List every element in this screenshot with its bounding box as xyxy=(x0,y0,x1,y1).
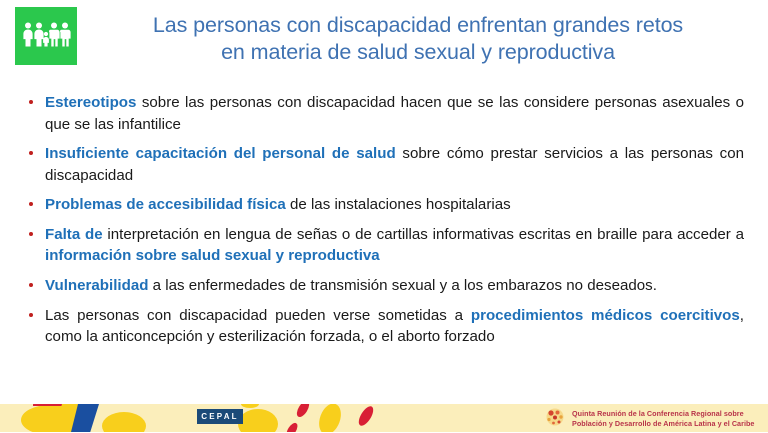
conference-title-line-1: Quinta Reunión de la Conferencia Regiona… xyxy=(572,409,754,419)
conference-title-line-2: Población y Desarrollo de América Latina… xyxy=(572,419,754,429)
list-item: Las personas con discapacidad pueden ver… xyxy=(22,305,744,348)
bullet-dot-icon xyxy=(29,283,33,287)
slide-header: Las personas con discapacidad enfrentan … xyxy=(0,0,768,88)
slide-title-line-1: Las personas con discapacidad enfrentan … xyxy=(88,12,748,39)
list-item: Problemas de accesibilidad física de las… xyxy=(22,194,744,216)
bullet-body-text: de las instalaciones hospitalarias xyxy=(286,196,511,213)
bullet-lead-highlight: Vulnerabilidad xyxy=(45,277,148,294)
conference-swirl-icon xyxy=(545,408,567,428)
slide-title-line-2: en materia de salud sexual y reproductiv… xyxy=(88,39,748,66)
bullet-dot-icon xyxy=(29,232,33,236)
bullet-dot-icon xyxy=(29,202,33,206)
bullet-body-text: sobre las personas con discapacidad hace… xyxy=(45,94,744,133)
bullet-body-text: Las personas con discapacidad pueden ver… xyxy=(45,307,471,324)
bullet-tail-highlight: procedimientos médicos coercitivos xyxy=(471,307,740,324)
bullet-tail-highlight: información sobre salud sexual y reprodu… xyxy=(45,247,380,264)
bullet-dot-icon xyxy=(29,100,33,104)
bullet-lead-highlight: Falta de xyxy=(45,226,103,243)
list-item: Falta de interpretación en lengua de señ… xyxy=(22,224,744,267)
bullet-list: Estereotipos sobre las personas con disc… xyxy=(22,92,744,348)
bullet-body-text: interpretación en lengua de señas o de c… xyxy=(103,226,744,243)
bullet-lead-highlight: Problemas de accesibilidad física xyxy=(45,196,286,213)
list-item: Estereotipos sobre las personas con disc… xyxy=(22,92,744,135)
conference-title: Quinta Reunión de la Conferencia Regiona… xyxy=(572,409,754,429)
sdg-people-group-icon xyxy=(15,7,77,65)
bullet-dot-icon xyxy=(29,151,33,155)
bullet-lead-highlight: Insuficiente capacitación del personal d… xyxy=(45,145,396,162)
cepal-logo: CEPAL xyxy=(197,409,243,424)
bullet-dot-icon xyxy=(29,313,33,317)
bullet-body-text: a las enfermedades de transmisión sexual… xyxy=(148,277,656,294)
list-item: Insuficiente capacitación del personal d… xyxy=(22,143,744,186)
list-item: Vulnerabilidad a las enfermedades de tra… xyxy=(22,275,744,297)
slide-title: Las personas con discapacidad enfrentan … xyxy=(88,12,748,66)
bullet-lead-highlight: Estereotipos xyxy=(45,94,136,111)
